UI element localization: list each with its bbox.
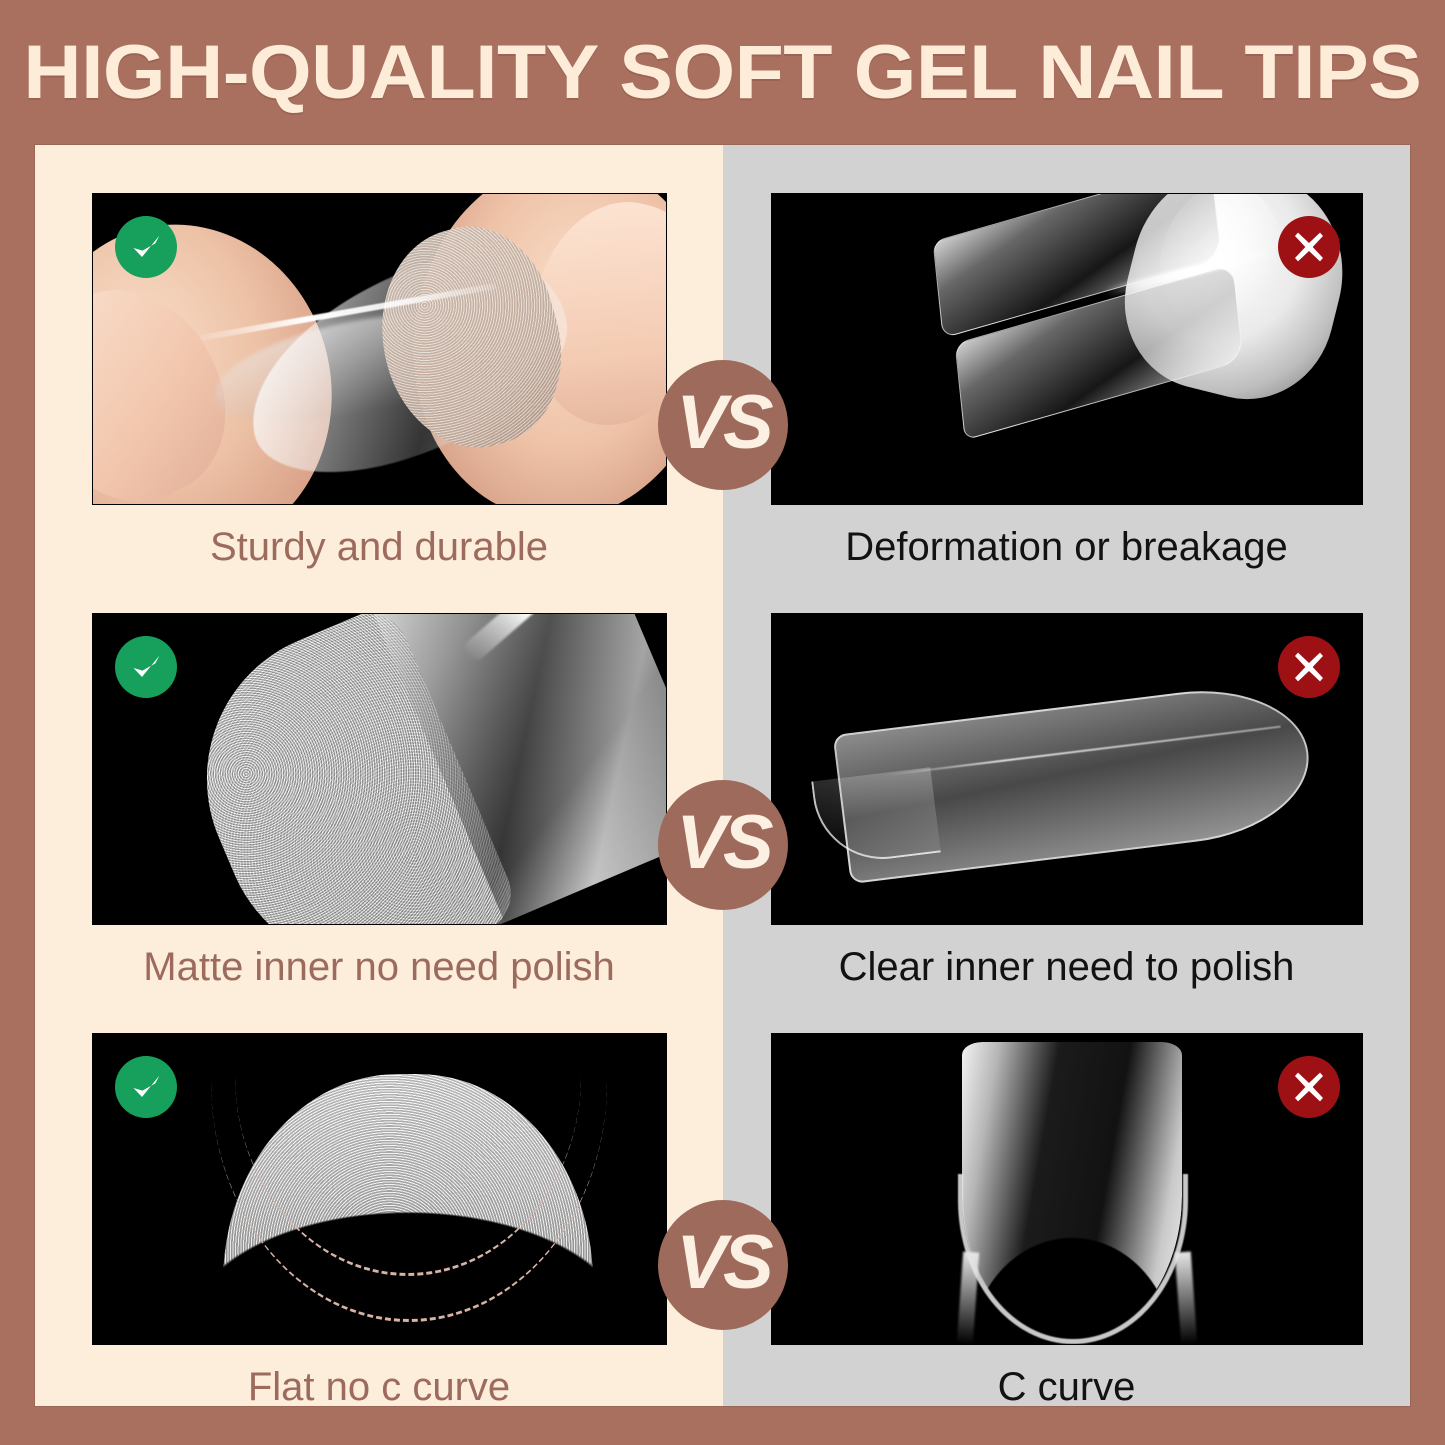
tip-cuticle-hook xyxy=(811,767,941,867)
photo-c-curve xyxy=(771,1033,1363,1345)
vs-badge-row-3: VS xyxy=(658,1200,788,1330)
bad-column: Deformation or breakage Clear inner need… xyxy=(723,145,1410,1406)
comparison-board: Sturdy and durable Matte inner no need p… xyxy=(35,145,1410,1406)
vs-label: VS xyxy=(676,805,769,881)
check-icon xyxy=(115,216,177,278)
page-title: HIGH-QUALITY SOFT GEL NAIL TIPS xyxy=(24,29,1422,116)
c-curve-side-wall xyxy=(956,1252,978,1345)
vs-label: VS xyxy=(676,385,769,461)
caption-good-1: Sturdy and durable xyxy=(210,525,548,569)
x-icon xyxy=(1278,636,1340,698)
comparison-cell-bad-1: Deformation or breakage xyxy=(723,145,1410,569)
comparison-cell-good-2: Matte inner no need polish xyxy=(35,569,723,989)
photo-sturdy-and-durable xyxy=(92,193,667,505)
title-bar: HIGH-QUALITY SOFT GEL NAIL TIPS xyxy=(0,0,1445,145)
x-icon xyxy=(1278,216,1340,278)
photo-deformation-or-breakage xyxy=(771,193,1363,505)
vs-badge-row-2: VS xyxy=(658,780,788,910)
caption-good-2: Matte inner no need polish xyxy=(143,945,614,989)
photo-clear-inner xyxy=(771,613,1363,925)
comparison-cell-bad-2: Clear inner need to polish xyxy=(723,569,1410,989)
comparison-cell-good-3: Flat no c curve xyxy=(35,989,723,1409)
x-icon xyxy=(1278,1056,1340,1118)
check-icon xyxy=(115,1056,177,1118)
caption-bad-3: C curve xyxy=(998,1365,1136,1409)
photo-matte-inner xyxy=(92,613,667,925)
vs-label: VS xyxy=(676,1225,769,1301)
c-curve-rim xyxy=(958,1174,1188,1344)
check-icon xyxy=(115,636,177,698)
vs-badge-row-1: VS xyxy=(658,360,788,490)
caption-good-3: Flat no c curve xyxy=(248,1365,510,1409)
c-curve-side-wall xyxy=(1174,1252,1196,1345)
good-column: Sturdy and durable Matte inner no need p… xyxy=(35,145,723,1406)
caption-bad-2: Clear inner need to polish xyxy=(839,945,1295,989)
comparison-cell-bad-3: C curve xyxy=(723,989,1410,1409)
matte-nail-tip xyxy=(160,613,667,925)
caption-bad-1: Deformation or breakage xyxy=(845,525,1287,569)
comparison-cell-good-1: Sturdy and durable xyxy=(35,145,723,569)
photo-flat-no-c-curve xyxy=(92,1033,667,1345)
